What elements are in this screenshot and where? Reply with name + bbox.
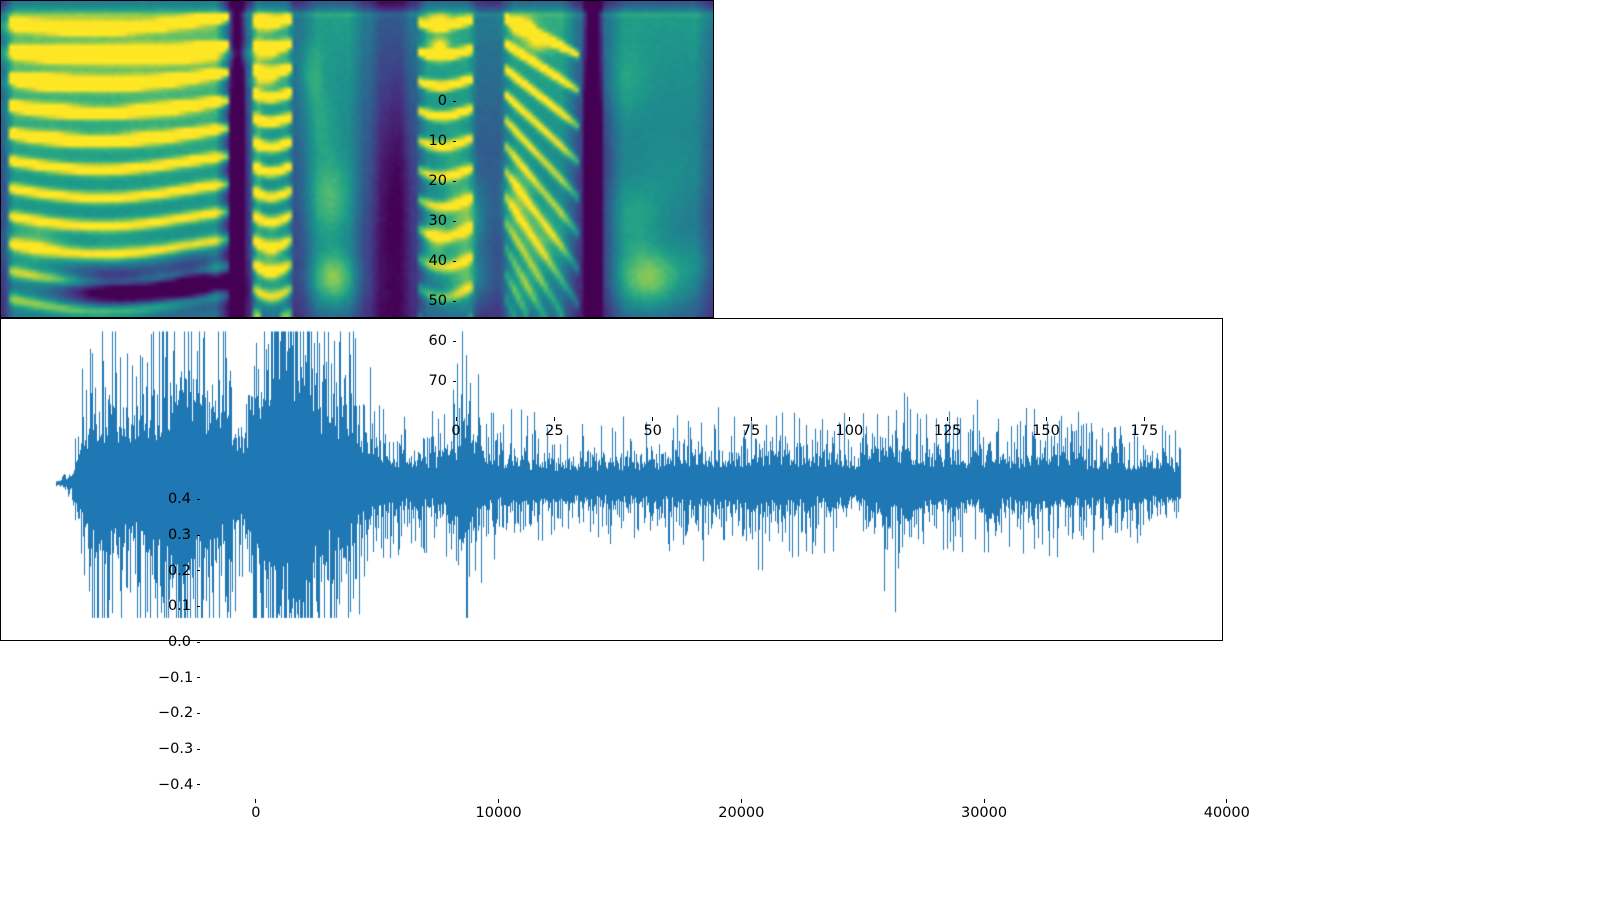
matplotlib-figure: 010203040506070 0255075100125150175 0.40… bbox=[0, 0, 1600, 900]
waveform-x-tick-label: 0 bbox=[251, 806, 260, 821]
spectrogram-x-tick-mark bbox=[652, 417, 653, 421]
spectrogram-y-tick-mark bbox=[453, 341, 457, 342]
waveform-y-tick-mark bbox=[197, 606, 201, 607]
spectrogram-y-tick-mark bbox=[453, 381, 457, 382]
spectrogram-y-tick-label: 40 bbox=[414, 254, 447, 269]
waveform-y-tick-mark bbox=[197, 570, 201, 571]
waveform-y-tick-mark bbox=[197, 784, 201, 785]
waveform-y-tick-label: 0.2 bbox=[158, 563, 191, 578]
spectrogram-x-tick-mark bbox=[751, 417, 752, 421]
waveform-y-tick-label: 0.3 bbox=[158, 528, 191, 543]
spectrogram-x-tick-label: 75 bbox=[742, 424, 760, 439]
spectrogram-y-tick-label: 20 bbox=[414, 174, 447, 189]
spectrogram-image bbox=[1, 1, 713, 317]
waveform-x-tick-mark bbox=[1226, 799, 1227, 803]
spectrogram-y-tick-label: 50 bbox=[414, 294, 447, 309]
waveform-y-tick-label: −0.1 bbox=[158, 670, 191, 685]
waveform-x-tick-label: 20000 bbox=[718, 806, 764, 821]
spectrogram-x-tick-label: 50 bbox=[643, 424, 661, 439]
spectrogram-y-tick-label: 0 bbox=[414, 94, 447, 109]
spectrogram-axes bbox=[0, 0, 714, 318]
spectrogram-x-tick-label: 175 bbox=[1131, 424, 1159, 439]
spectrogram-y-tick-mark bbox=[453, 261, 457, 262]
spectrogram-x-tick-mark bbox=[1046, 417, 1047, 421]
waveform-y-tick-label: 0.0 bbox=[158, 635, 191, 650]
waveform-y-tick-label: −0.3 bbox=[158, 742, 191, 757]
waveform-y-tick-mark bbox=[197, 535, 201, 536]
spectrogram-y-tick-mark bbox=[453, 181, 457, 182]
spectrogram-x-tick-label: 125 bbox=[934, 424, 962, 439]
waveform-x-tick-label: 40000 bbox=[1204, 806, 1250, 821]
waveform-x-tick-mark bbox=[741, 799, 742, 803]
spectrogram-y-tick-mark bbox=[453, 141, 457, 142]
spectrogram-x-tick-mark bbox=[849, 417, 850, 421]
waveform-x-tick-mark bbox=[255, 799, 256, 803]
waveform-x-tick-label: 30000 bbox=[961, 806, 1007, 821]
waveform-line bbox=[1, 319, 1222, 640]
spectrogram-x-tick-label: 25 bbox=[545, 424, 563, 439]
spectrogram-y-tick-label: 10 bbox=[414, 134, 447, 149]
waveform-y-tick-mark bbox=[197, 749, 201, 750]
spectrogram-y-tick-label: 60 bbox=[414, 334, 447, 349]
waveform-x-tick-mark bbox=[984, 799, 985, 803]
spectrogram-x-tick-mark bbox=[554, 417, 555, 421]
spectrogram-y-tick-label: 30 bbox=[414, 214, 447, 229]
spectrogram-y-tick-label: 70 bbox=[414, 374, 447, 389]
waveform-y-tick-label: −0.2 bbox=[158, 706, 191, 721]
spectrogram-x-tick-label: 150 bbox=[1032, 424, 1060, 439]
spectrogram-y-tick-mark bbox=[453, 301, 457, 302]
spectrogram-x-tick-mark bbox=[1144, 417, 1145, 421]
spectrogram-y-tick-mark bbox=[453, 221, 457, 222]
waveform-y-tick-mark bbox=[197, 677, 201, 678]
waveform-y-tick-label: 0.4 bbox=[158, 492, 191, 507]
spectrogram-x-tick-label: 0 bbox=[451, 424, 460, 439]
waveform-axes bbox=[0, 318, 1223, 641]
waveform-x-tick-mark bbox=[498, 799, 499, 803]
waveform-y-tick-mark bbox=[197, 713, 201, 714]
waveform-y-tick-label: −0.4 bbox=[158, 777, 191, 792]
spectrogram-x-tick-mark bbox=[947, 417, 948, 421]
waveform-x-tick-label: 10000 bbox=[475, 806, 521, 821]
spectrogram-x-tick-mark bbox=[456, 417, 457, 421]
waveform-y-tick-mark bbox=[197, 499, 201, 500]
waveform-y-tick-label: 0.1 bbox=[158, 599, 191, 614]
waveform-y-tick-mark bbox=[197, 642, 201, 643]
spectrogram-y-tick-mark bbox=[453, 101, 457, 102]
spectrogram-x-tick-label: 100 bbox=[836, 424, 864, 439]
